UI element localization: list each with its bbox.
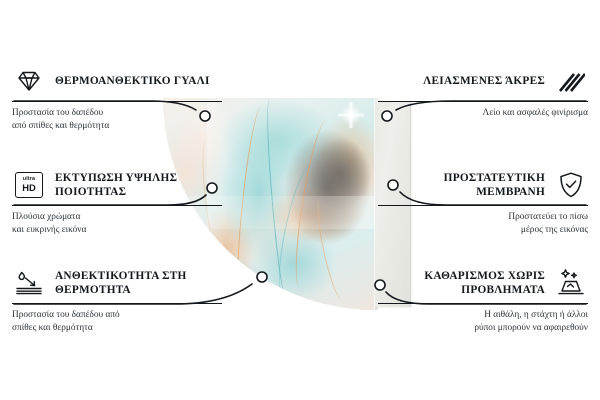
feature-description: Πλούσια χρώματα και ευκρινής εικόνα [12,211,222,237]
feature-description: Προστασία του δαπέδου από σπίθες και θερ… [12,309,222,335]
feature-description: Η αιθάλη, η στάχτη ή άλλοι ρύποι μπορούν… [378,309,588,335]
feature-title: ΛΕΙΑΣΜΕΝΕΣ ΆΚΡΕΣ [423,74,545,88]
feature-description: Προστασία του δαπέδου από σπίθες και θερ… [12,107,222,133]
smooth-edges-icon [554,66,588,96]
feature-divider [378,205,588,206]
feature-protective-membrane: ΠΡΟΣΤΑΤΕΥΤΙΚΗ ΜΕΜΒΡΑΝΗ Προστατεύει το πί… [378,168,588,237]
diamond-icon [12,66,46,96]
shield-check-icon [554,170,588,200]
ultra-hd-icon-bottom-label: HD [22,183,36,192]
easy-clean-icon [554,268,588,298]
feature-easy-cleaning: ΚΑΘΑΡΙΣΜΟΣ ΧΩΡΙΣ ΠΡΟΒΛΗΜΑΤΑ Η αιθάλη, η … [378,266,588,335]
feature-heat-durability: ΑΝΘΕΚΤΙΚΟΤΗΤΑ ΣΤΗ ΘΕΡΜΟΤΗΤΑ Προστασία το… [12,266,222,335]
ultra-hd-icon: ultra HD [12,170,46,200]
feature-divider [378,101,588,102]
feature-divider [378,303,588,304]
feature-title: ΘΕΡΜΟΑΝΘΕΚΤΙΚΟ ΓΥΑΛΙ [55,74,210,88]
feature-title: ΕΚΤΥΠΩΣΗ ΥΨΗΛΗΣ ΠΟΙΟΤΗΤΑΣ [55,171,222,200]
feature-smooth-edges: ΛΕΙΑΣΜΕΝΕΣ ΆΚΡΕΣ Λείο και ασφαλές φινίρι… [378,64,588,120]
feature-description: Προστατεύει το πίσω μέρος της εικόνας [378,211,588,237]
feature-title: ΑΝΘΕΚΤΙΚΟΤΗΤΑ ΣΤΗ ΘΕΡΜΟΤΗΤΑ [55,269,222,298]
feature-divider [12,101,222,102]
heat-resistance-icon [12,268,46,298]
feature-high-quality-print: ultra HD ΕΚΤΥΠΩΣΗ ΥΨΗΛΗΣ ΠΟΙΟΤΗΤΑΣ Πλούσ… [12,168,222,237]
feature-title: ΠΡΟΣΤΑΤΕΥΤΙΚΗ ΜΕΜΒΡΑΝΗ [378,171,545,200]
feature-divider [12,303,222,304]
infographic-stage: ΘΕΡΜΟΑΝΘΕΚΤΙΚΟ ΓΥΑΛΙ Προστασία του δαπέδ… [0,0,600,400]
feature-divider [12,205,222,206]
feature-title: ΚΑΘΑΡΙΣΜΟΣ ΧΩΡΙΣ ΠΡΟΒΛΗΜΑΤΑ [378,269,545,298]
feature-description: Λείο και ασφαλές φινίρισμα [378,107,588,120]
feature-heat-resistant-glass: ΘΕΡΜΟΑΝΘΕΚΤΙΚΟ ΓΥΑΛΙ Προστασία του δαπέδ… [12,64,222,133]
